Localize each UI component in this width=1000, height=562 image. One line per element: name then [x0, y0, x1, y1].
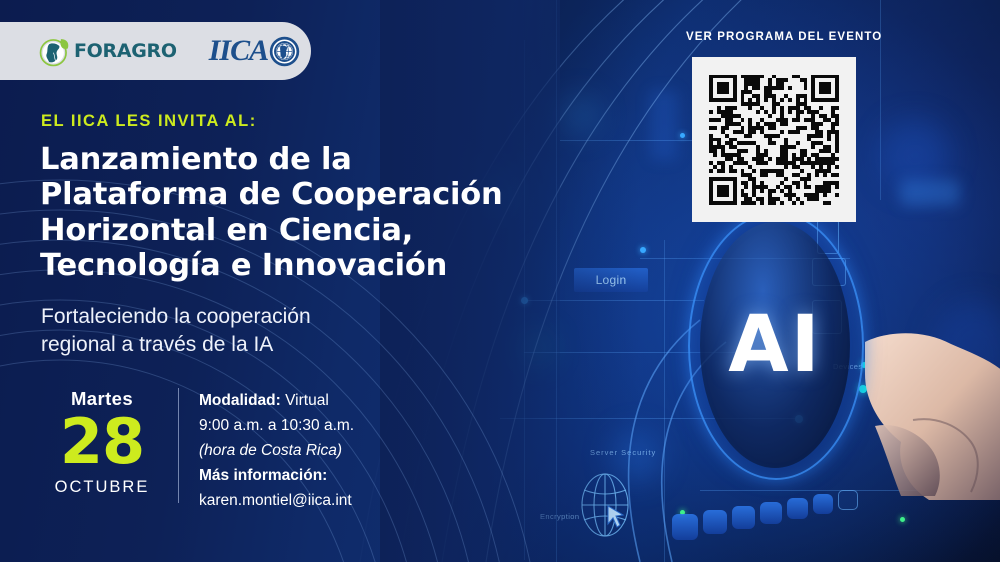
- modality-label: Modalidad:: [199, 392, 281, 409]
- vertical-divider: [178, 388, 179, 503]
- pointing-hand-image: [855, 300, 1000, 500]
- headline-line: Horizontal en Ciencia,: [40, 213, 510, 248]
- subtitle-line: regional a través de la IA: [41, 331, 401, 359]
- modality-value: Virtual: [285, 392, 329, 409]
- date-day-number: 28: [38, 412, 166, 472]
- date-month: OCTUBRE: [38, 478, 166, 497]
- modality-row: Modalidad: Virtual: [199, 388, 479, 413]
- subtitle-line: Fortaleciendo la cooperación: [41, 303, 401, 331]
- event-date: Martes 28 OCTUBRE: [38, 388, 166, 497]
- logo-bar: FORAGRO IICA: [0, 22, 311, 80]
- event-details: Modalidad: Virtual 9:00 a.m. a 10:30 a.m…: [199, 388, 479, 514]
- event-program-qr-code[interactable]: [692, 57, 856, 222]
- page-title: Lanzamiento de la Plataforma de Cooperac…: [40, 142, 510, 284]
- ai-orb-label: AI: [700, 222, 850, 468]
- foragro-wordmark: FORAGRO: [74, 40, 177, 62]
- headline-line: Plataforma de Cooperación: [40, 177, 510, 212]
- promo-banner: Devices Server Security Encryption Login: [0, 0, 1000, 562]
- contact-email[interactable]: karen.montiel@iica.int: [199, 488, 479, 513]
- iica-wordmark: IICA: [209, 34, 268, 68]
- timezone-note: (hora de Costa Rica): [199, 438, 479, 463]
- headline-line: Lanzamiento de la: [40, 142, 510, 177]
- qr-code-matrix: [709, 75, 839, 205]
- foragro-logo: FORAGRO: [38, 34, 177, 68]
- subtitle: Fortaleciendo la cooperación regional a …: [41, 303, 401, 358]
- qr-label: VER PROGRAMA DEL EVENTO: [686, 31, 882, 43]
- iica-seal-icon: [269, 36, 300, 67]
- time-row: 9:00 a.m. a 10:30 a.m.: [199, 413, 479, 438]
- globe-leaf-icon: [38, 34, 72, 68]
- headline-line: Tecnología e Innovación: [40, 248, 510, 283]
- more-info-label: Más información:: [199, 463, 479, 488]
- iica-logo: IICA: [209, 34, 300, 68]
- kicker-text: EL IICA LES INVITA AL:: [41, 112, 257, 131]
